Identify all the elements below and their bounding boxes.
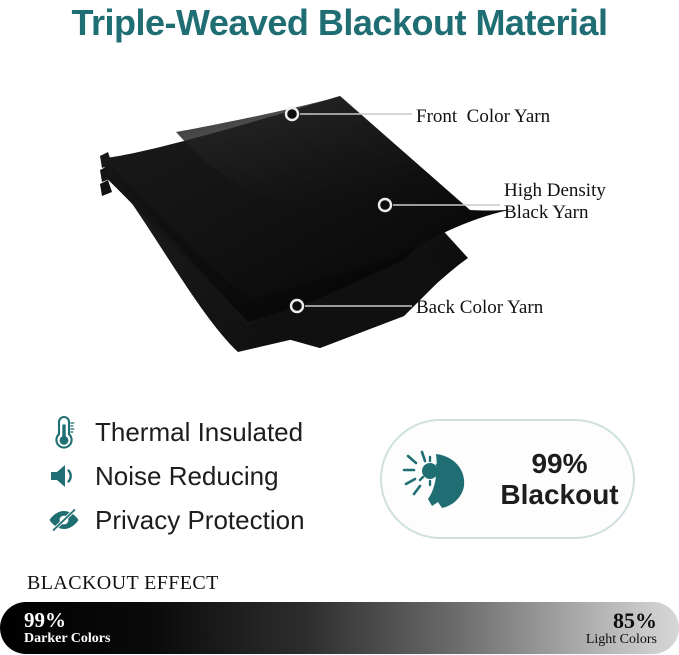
feature-thermal-insulated: Thermal Insulated xyxy=(44,410,364,454)
blackout-effect-title: BLACKOUT EFFECT xyxy=(27,572,219,595)
product-infographic: Triple-Weaved Blackout Material xyxy=(0,0,679,655)
callout-dot-front xyxy=(286,108,298,120)
fabric-layer-edges xyxy=(100,152,112,196)
bar-left-group: 99% Darker Colors xyxy=(24,609,110,646)
callout-label-high-density: High Density Black Yarn xyxy=(504,180,606,225)
thermometer-icon xyxy=(44,413,84,451)
speaker-wave-icon xyxy=(44,457,84,495)
badge-text-group: 99% Blackout xyxy=(486,448,633,511)
blackout-badge: 99% Blackout xyxy=(380,419,635,539)
callout-dot-high-density xyxy=(379,199,391,211)
feature-list: Thermal Insulated Noise Reducing Pri xyxy=(44,410,364,542)
sun-blocked-by-curtain-icon xyxy=(400,442,478,516)
bar-right-caption: Light Colors xyxy=(586,632,657,647)
blackout-gradient-bar: 99% Darker Colors 85% Light Colors xyxy=(0,602,679,654)
callout-dot-back xyxy=(291,300,303,312)
callout-label-front: Front Color Yarn xyxy=(416,106,550,128)
badge-percent: 99% xyxy=(486,448,633,479)
bar-right-percent: 85% xyxy=(586,609,657,632)
badge-label: Blackout xyxy=(486,479,633,510)
feature-label: Privacy Protection xyxy=(95,505,305,536)
feature-noise-reducing: Noise Reducing xyxy=(44,454,364,498)
callout-label-back: Back Color Yarn xyxy=(416,297,543,319)
bar-right-group: 85% Light Colors xyxy=(586,609,657,647)
bar-left-percent: 99% xyxy=(24,609,110,631)
bar-left-caption: Darker Colors xyxy=(24,631,110,646)
feature-label: Noise Reducing xyxy=(95,461,279,492)
eye-slash-icon xyxy=(44,501,84,539)
page-title: Triple-Weaved Blackout Material xyxy=(0,2,679,44)
feature-privacy-protection: Privacy Protection xyxy=(44,498,364,542)
feature-label: Thermal Insulated xyxy=(95,417,303,448)
